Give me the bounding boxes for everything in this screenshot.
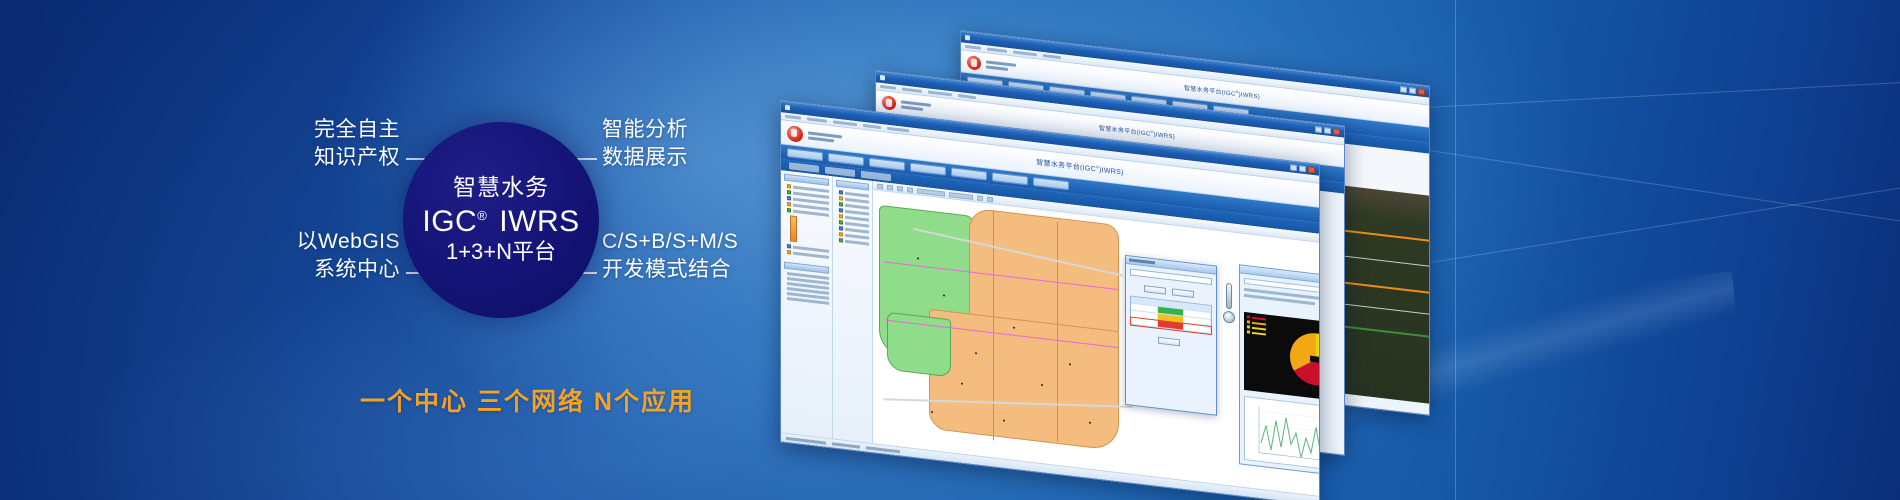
maximize-icon[interactable] [1299,165,1306,172]
feature-label-bottom-left-line1: 以WebGIS [262,228,400,256]
menu-item-edit[interactable] [807,117,827,122]
nav-tab-3[interactable] [869,158,905,171]
nav-tab-2[interactable] [828,153,864,166]
map-point[interactable] [1013,327,1015,329]
window-controls-middle[interactable] [1315,126,1340,135]
trend-chart-svg [1245,397,1319,473]
map-point[interactable] [975,352,977,354]
nav-tab-7[interactable] [1033,177,1069,190]
feature-label-top-left-line2: 知识产权 [270,144,400,172]
water-drop-logo-icon [787,124,803,142]
joystick-stick[interactable] [1226,283,1232,310]
water-drop-logo-icon [967,55,981,71]
window-controls-front[interactable] [1290,164,1315,173]
menu-item-edit[interactable] [902,87,922,92]
product-badge-subtitle: 智慧水务 [453,175,549,201]
trend-chart-front [1244,396,1319,473]
maximize-icon[interactable] [1324,127,1331,134]
feature-label-top-right-line1: 智能分析 [602,116,688,144]
gis-map-area[interactable] [873,181,1319,496]
toc-panel-header [836,180,869,191]
zoom-out-tool-icon[interactable] [897,185,903,191]
menu-item-tools[interactable] [958,94,976,99]
product-badge-title: IGC®IWRS [422,205,579,239]
monitoring-panel[interactable] [1239,264,1319,478]
status-coordinates [832,442,860,448]
joystick-pad[interactable] [1223,310,1235,323]
maximize-icon[interactable] [1409,87,1416,94]
nav-tab-6[interactable] [992,172,1028,185]
infographic-diagram: 完全自主 知识产权 以WebGIS 系统中心 智能分析 数据展示 C/S+B/S… [270,100,790,360]
feature-label-top-left: 完全自主 知识产权 [270,116,400,172]
print-tool-icon[interactable] [987,196,993,202]
nav-tab-4[interactable] [910,162,946,175]
nav-tab-1[interactable] [787,148,823,161]
brand-text-front [808,131,842,143]
scale-dropdown[interactable] [949,192,973,200]
close-icon[interactable] [1333,128,1340,135]
pie-legend-front [1247,315,1266,335]
query-clear-button[interactable] [1172,288,1194,298]
window-controls-back[interactable] [1400,86,1425,95]
product-badge-title-iwrs: IWRS [499,205,579,238]
map-navigation-joystick[interactable] [1223,282,1235,329]
zoom-in-tool-icon[interactable] [887,184,893,190]
map-point[interactable] [1003,419,1005,421]
registered-mark-icon: ® [477,208,487,223]
map-district-orange-lower[interactable] [929,309,1119,451]
product-badge-title-igc: IGC [422,205,477,238]
window-icon [785,105,790,111]
menu-item-help[interactable] [887,127,909,133]
water-drop-logo-icon [882,95,896,111]
app-window-stack: 智慧水务平台(IGC®)IWRS) [780,40,1900,470]
minimize-icon[interactable] [1400,86,1407,93]
product-badge-circle: 智慧水务 IGC®IWRS 1+3+N平台 [403,122,599,318]
window-icon [965,35,970,41]
menu-item-file[interactable] [880,85,896,90]
menu-item-tools[interactable] [863,124,881,129]
app-window-front[interactable]: 智慧水务平台(IGC®)IWRS) [780,100,1320,500]
brand-text-middle [901,100,931,112]
menu-item-view[interactable] [928,91,952,97]
menu-item-file[interactable] [965,45,981,50]
brand-text-back [986,60,1016,72]
banner-hero: 完全自主 知识产权 以WebGIS 系统中心 智能分析 数据展示 C/S+B/S… [0,0,1900,500]
map-point[interactable] [1041,384,1043,386]
identify-tool-icon[interactable] [907,187,913,193]
toc-panel[interactable] [833,176,873,443]
query-search-button[interactable] [1144,285,1166,295]
menu-item-edit[interactable] [987,47,1007,52]
map-point[interactable] [1089,422,1091,424]
feature-label-bottom-left-line2: 系统中心 [262,256,400,284]
feature-label-bottom-left: 以WebGIS 系统中心 [262,228,400,284]
status-text [786,437,826,445]
map-point[interactable] [961,382,963,384]
query-dialog[interactable] [1125,255,1217,416]
pie-chart-front [1290,330,1319,388]
menu-item-tools[interactable] [1043,54,1061,59]
feature-label-top-left-line1: 完全自主 [270,116,400,144]
pan-tool-icon[interactable] [877,183,883,189]
status-scale [866,446,900,453]
menu-item-view[interactable] [1013,51,1037,57]
map-point[interactable] [917,257,919,259]
menu-item-view[interactable] [833,120,857,126]
legend-color-ramp [790,215,797,242]
nav-tab-5[interactable] [951,167,987,180]
query-ok-button[interactable] [1158,337,1180,347]
query-results-grid[interactable] [1130,295,1212,335]
map-point[interactable] [943,294,945,296]
layers-panel[interactable] [781,170,833,438]
close-icon[interactable] [1418,88,1425,95]
feature-label-bottom-right-line2: 开发模式结合 [602,256,738,284]
product-badge-platform: 1+3+N平台 [446,240,556,265]
pie-chart-container-front [1244,312,1319,403]
minimize-icon[interactable] [1290,164,1297,171]
map-point[interactable] [1069,363,1071,365]
close-icon[interactable] [1308,166,1315,173]
menu-item-file[interactable] [785,115,801,120]
window-icon [880,75,885,81]
tagline-text: 一个中心 三个网络 N个应用 [360,382,695,418]
map-point[interactable] [931,411,933,413]
feature-label-bottom-right: C/S+B/S+M/S 开发模式结合 [602,228,738,284]
pie-legend-item-4 [1247,330,1266,335]
feature-label-top-right: 智能分析 数据展示 [602,116,688,172]
minimize-icon[interactable] [1315,126,1322,133]
feature-label-top-right-line2: 数据展示 [602,144,688,172]
measure-tool-icon[interactable] [977,195,983,201]
feature-label-bottom-right-line1: C/S+B/S+M/S [602,228,738,256]
pipeline-v2 [1057,222,1058,442]
